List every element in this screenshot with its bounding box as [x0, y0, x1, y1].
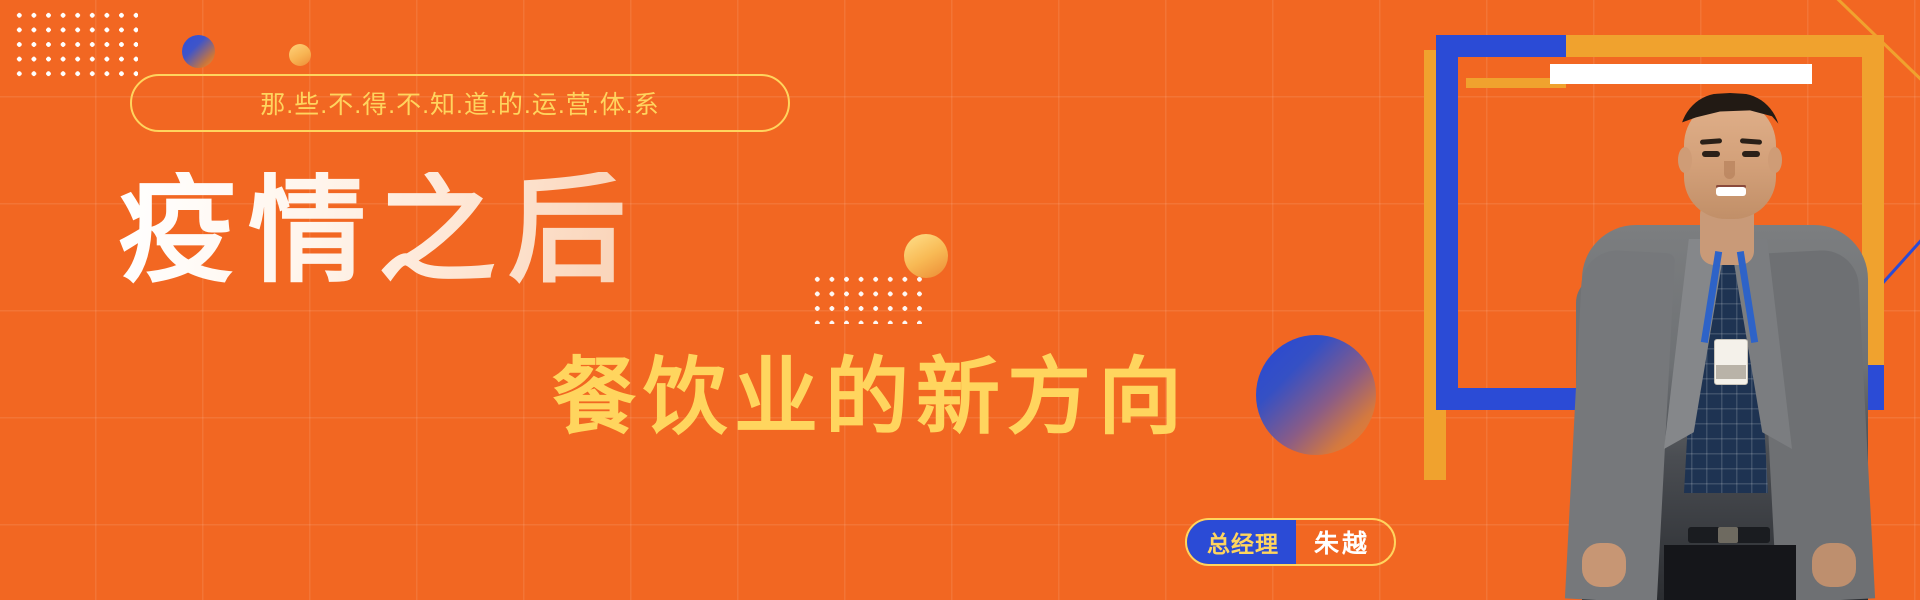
portrait-hand-left [1582, 543, 1626, 587]
gradient-sphere-icon [182, 35, 215, 68]
portrait-id-badge-strip [1716, 365, 1746, 379]
portrait-nose [1724, 161, 1735, 179]
portrait-mouth [1716, 187, 1746, 196]
portrait-frame-block [1400, 0, 1920, 600]
speaker-badge: 总经理 朱越 [1185, 518, 1396, 566]
frame-bar-amber-top [1566, 35, 1884, 57]
gradient-sphere-icon [1256, 335, 1376, 455]
speaker-name-label: 朱越 [1296, 520, 1394, 564]
portrait-belt-buckle [1718, 527, 1738, 543]
headline-secondary: 餐饮业的新方向 [552, 355, 1189, 439]
gradient-sphere-icon [289, 44, 311, 66]
portrait-ear-left [1678, 147, 1692, 173]
portrait-eye-left [1702, 151, 1720, 157]
subtitle-pill: 那.些.不.得.不.知.道.的.运.营.体.系 [130, 74, 790, 132]
speaker-portrait [1568, 75, 1878, 600]
portrait-trousers [1664, 545, 1796, 600]
speaker-role-label: 总经理 [1187, 520, 1296, 564]
portrait-hand-right [1812, 543, 1856, 587]
portrait-eye-right [1742, 151, 1760, 157]
dot-grid-icon [12, 8, 138, 78]
gradient-sphere-icon [904, 234, 948, 278]
headline-primary: 疫情之后 [118, 172, 638, 290]
dot-grid-icon [810, 272, 930, 324]
portrait-ear-right [1768, 147, 1782, 173]
subtitle-text: 那.些.不.得.不.知.道.的.运.营.体.系 [260, 85, 659, 121]
portrait-head [1684, 99, 1776, 219]
promo-banner: 那.些.不.得.不.知.道.的.运.营.体.系 疫情之后 餐饮业的新方向 总经理… [0, 0, 1920, 600]
